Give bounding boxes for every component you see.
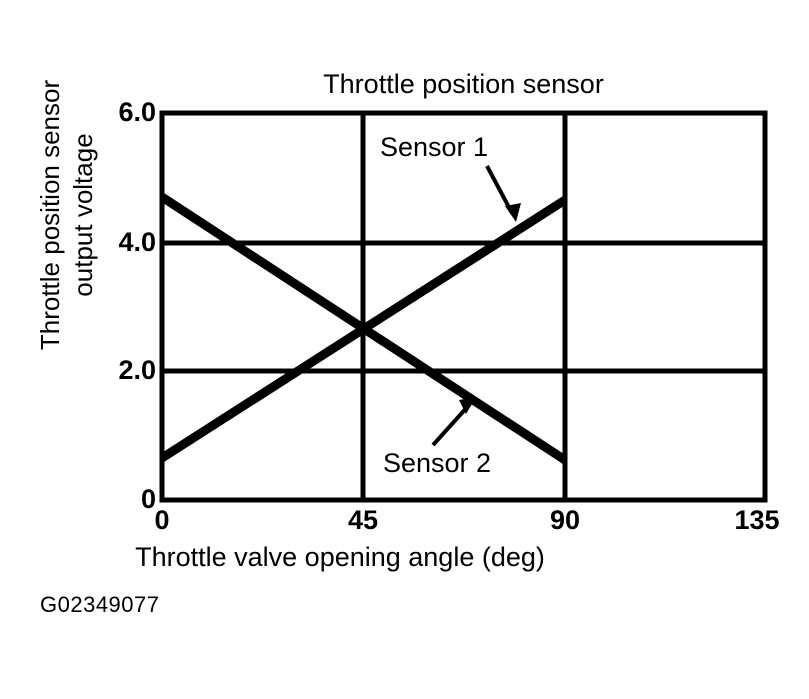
series-label-sensor-1: Sensor 1 <box>380 132 488 162</box>
figure-code: G02349077 <box>40 592 160 618</box>
annotation-arrow-sensor-1 <box>487 166 521 222</box>
plot-frame <box>162 113 765 500</box>
figure-throttle-position-sensor: Throttle position sensor Throttle positi… <box>0 0 809 699</box>
annotation-arrow-sensor-2 <box>433 397 476 445</box>
plot-border <box>162 113 765 500</box>
series-label-sensor-2: Sensor 2 <box>383 448 491 478</box>
x-axis-label: Throttle valve opening angle (deg) <box>30 541 650 573</box>
gridlines <box>162 113 765 500</box>
